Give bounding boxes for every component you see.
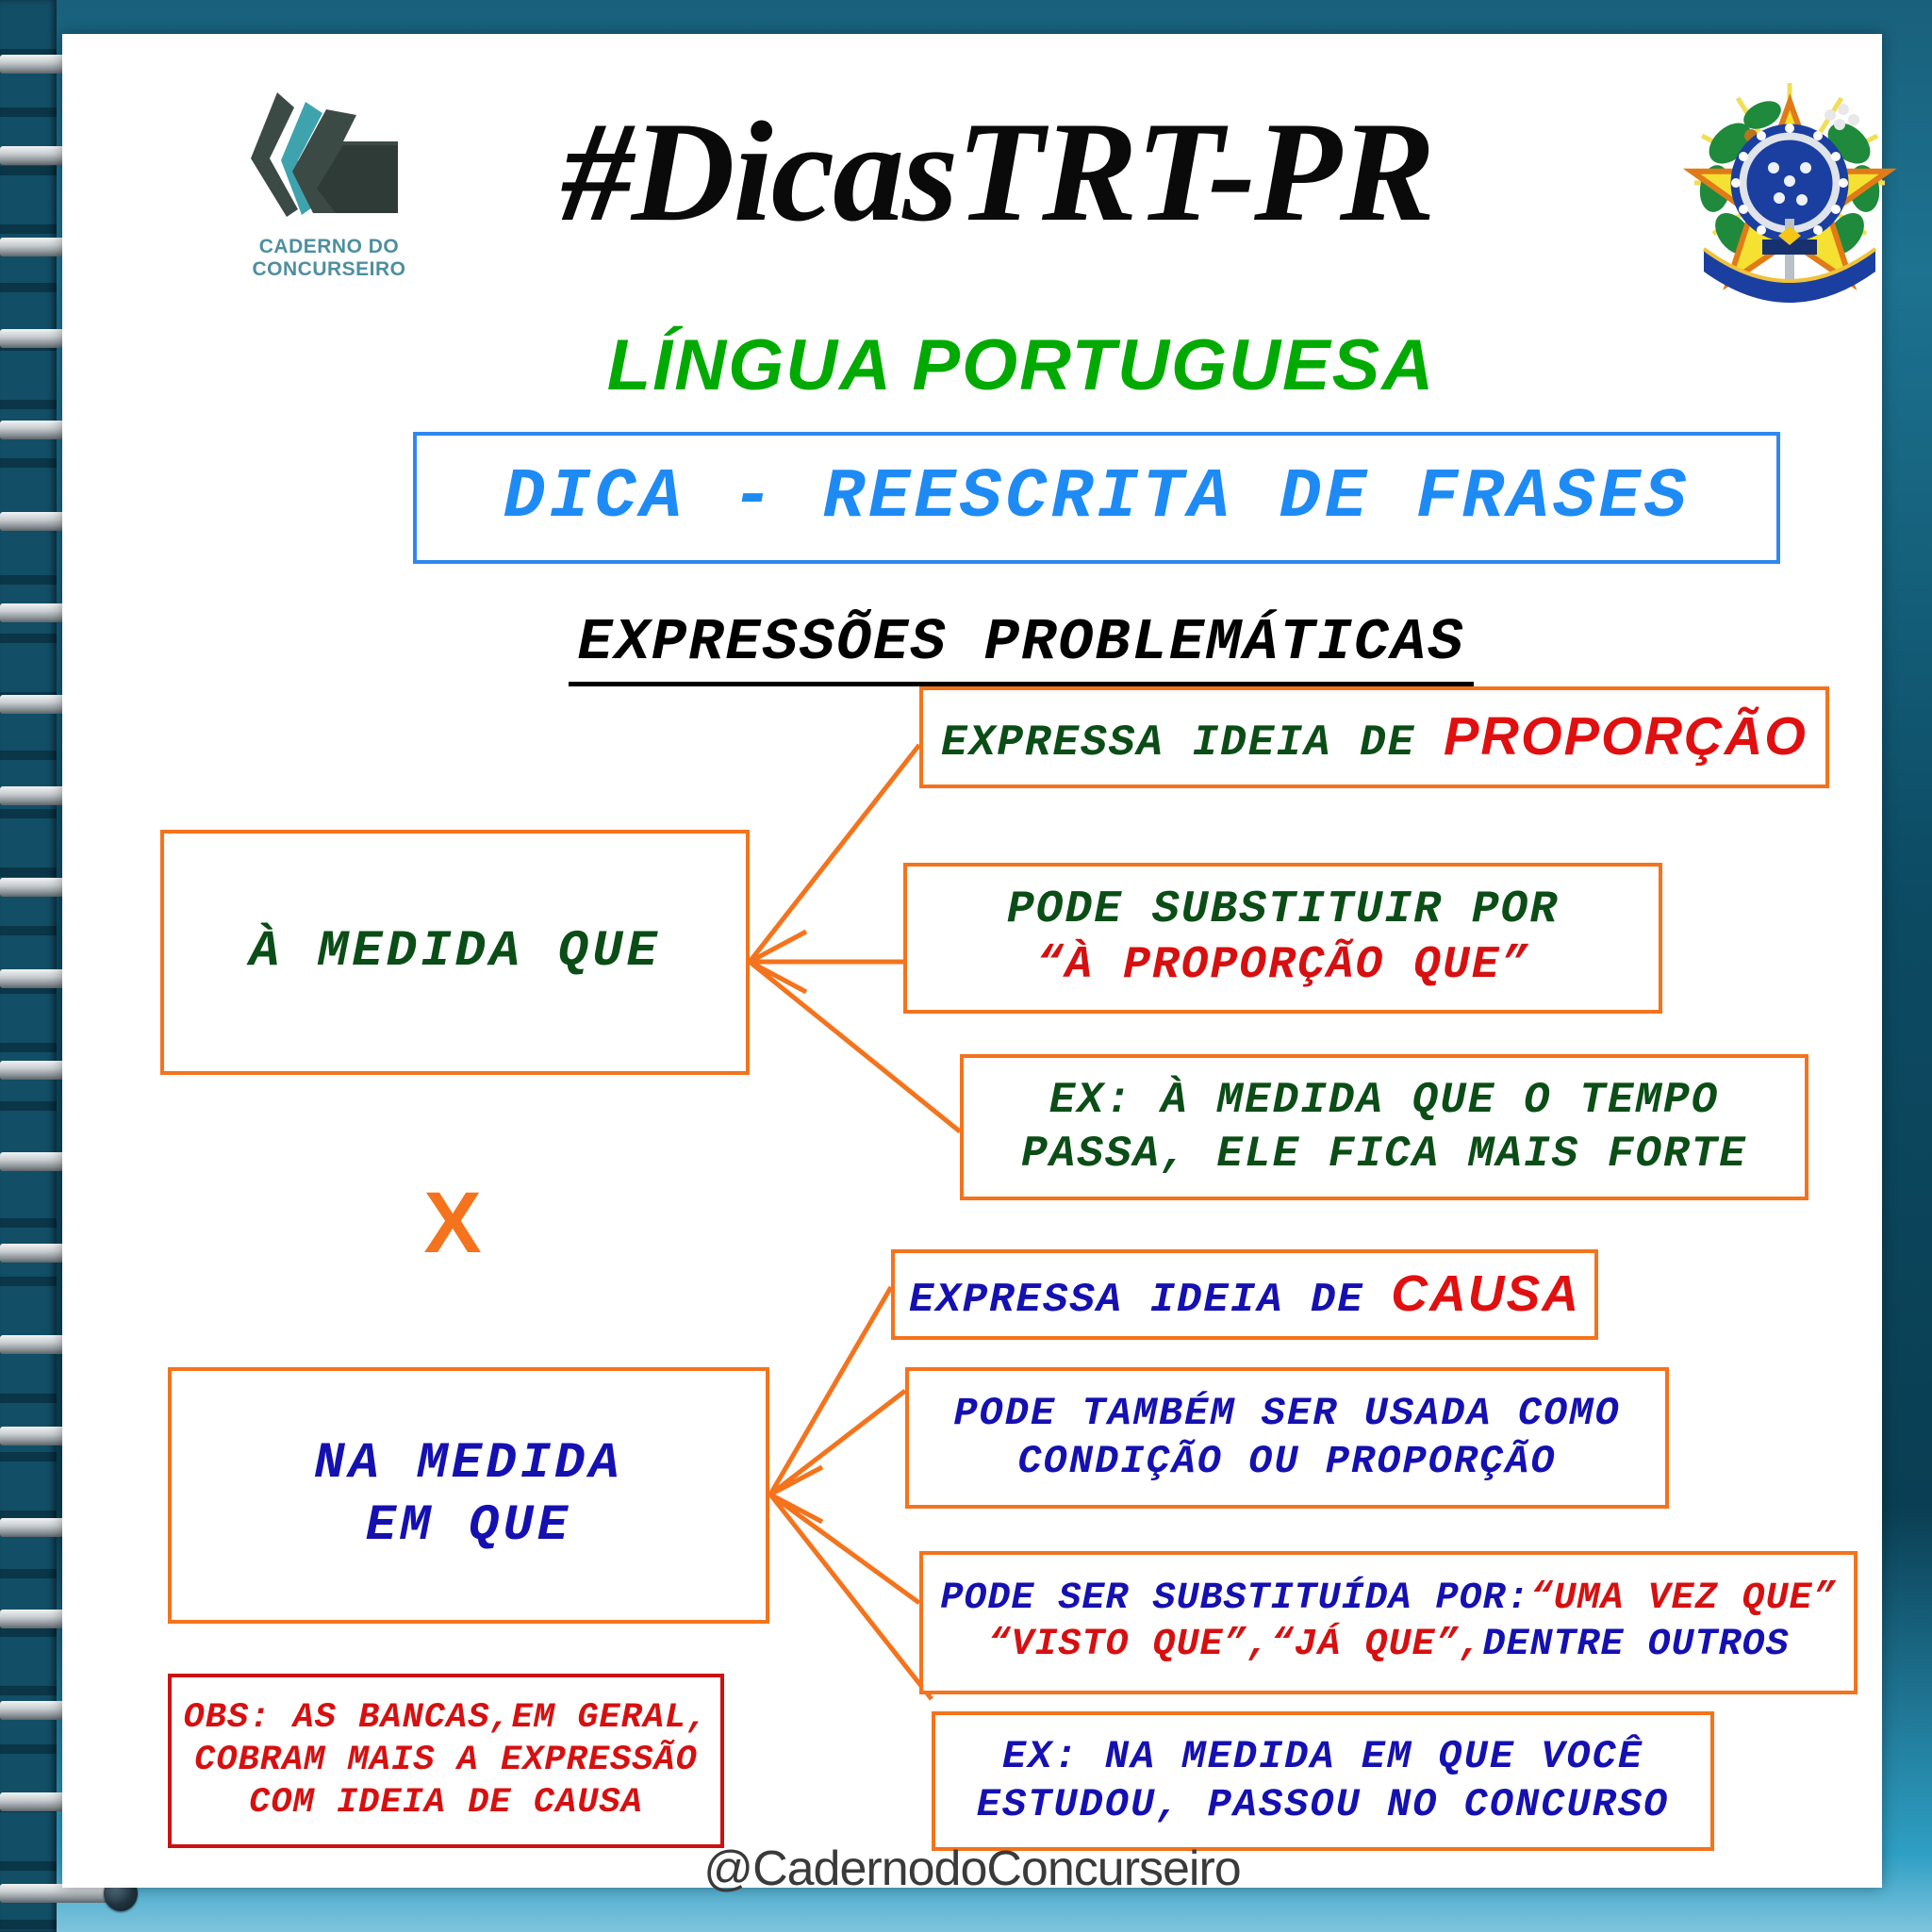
note-a-example: EX: À MEDIDA QUE O TEMPO PASSA, ELE FICA… [960,1054,1808,1200]
note-b-idea-line: EXPRESSA IDEIA DE CAUSA [909,1263,1580,1327]
infographic-page: CADERNO DO CONCURSEIRO #DicasTRT-PR [0,0,1932,1932]
note-b-sub-line2-red: “VISTO QUE”,“JÁ QUE”, [987,1624,1482,1666]
note-b-substitution: PODE SER SUBSTITUÍDA POR:“UMA VEZ QUE” “… [919,1551,1858,1694]
note-b-example: EX: NA MEDIDA EM QUE VOCÊ ESTUDOU, PASSO… [932,1711,1714,1851]
social-handle: @CadernodoConcurseiro [62,1841,1882,1897]
logo-caption-line2: CONCURSEIRO [239,258,419,281]
section-heading-text: EXPRESSÕES PROBLEMÁTICAS [569,609,1475,686]
note-b-ex-line1: EX: NA MEDIDA EM QUE VOCÊ [1002,1733,1643,1781]
open-book-logo-icon [232,85,421,236]
logo-caption-line1: CADERNO DO [239,236,419,258]
term-b-label-line2: EM QUE [366,1495,571,1558]
note-b-idea: EXPRESSA IDEIA DE CAUSA [891,1249,1598,1340]
page-title: #DicasTRT-PR [394,100,1601,243]
note-b-ex-line2: ESTUDOU, PASSOU NO CONCURSO [977,1781,1670,1829]
subject-title: LÍNGUA PORTUGUESA [111,330,1931,402]
observation-line2: COBRAM MAIS A EXPRESSÃO [194,1740,698,1782]
note-b-also-line1: PODE TAMBÉM SER USADA COMO [953,1390,1620,1438]
term-b-label-line1: NA MEDIDA [314,1433,623,1495]
note-b-also: PODE TAMBÉM SER USADA COMO CONDIÇÃO OU P… [905,1367,1669,1509]
note-a-idea-line: EXPRESSA IDEIA DE PROPORÇÃO [941,704,1808,769]
note-a-sub-line2: “À PROPORÇÃO QUE” [1036,938,1530,994]
observation-box: OBS: AS BANCAS,EM GERAL, COBRAM MAIS A E… [168,1674,724,1848]
tip-title-box: DICA - REESCRITA DE FRASES [413,432,1780,564]
note-a-sub-line1: PODE SUBSTITUIR POR [1007,883,1559,938]
note-b-sub-line2-blue: DENTRE OUTROS [1483,1624,1790,1666]
term-box-a-medida-que: À MEDIDA QUE [160,830,750,1075]
term-box-na-medida-em-que: NA MEDIDA EM QUE [168,1367,769,1624]
note-b-idea-lead: EXPRESSA IDEIA DE [909,1277,1391,1324]
tip-title-text: DICA - REESCRITA DE FRASES [504,458,1691,537]
logo-caption: CADERNO DO CONCURSEIRO [239,236,419,280]
note-b-sub-line1: PODE SER SUBSTITUÍDA POR:“UMA VEZ QUE” [940,1577,1836,1623]
observation-line3: COM IDEIA DE CAUSA [249,1782,643,1825]
note-b-sub-line1-red: “UMA VEZ QUE” [1530,1577,1837,1620]
note-a-idea: EXPRESSA IDEIA DE PROPORÇÃO [919,686,1829,788]
note-b-sub-line1-blue: PODE SER SUBSTITUÍDA POR: [940,1577,1529,1620]
note-a-idea-lead: EXPRESSA IDEIA DE [941,718,1444,768]
note-a-ex-line2: PASSA, ELE FICA MAIS FORTE [1021,1128,1747,1181]
section-heading: EXPRESSÕES PROBLEMÁTICAS [111,609,1931,676]
note-a-ex-line1: EX: À MEDIDA QUE O TEMPO [1049,1074,1720,1127]
note-a-substitution: PODE SUBSTITUIR POR “À PROPORÇÃO QUE” [903,863,1662,1014]
caderno-do-concurseiro-logo: CADERNO DO CONCURSEIRO [232,85,421,288]
observation-line1: OBS: AS BANCAS,EM GERAL, [184,1697,709,1740]
brazil-coat-of-arms-icon [1681,77,1898,304]
note-b-sub-line2: “VISTO QUE”,“JÁ QUE”,DENTRE OUTROS [987,1623,1789,1669]
versus-symbol: X [358,1174,547,1273]
note-b-idea-highlight: CAUSA [1391,1265,1580,1322]
notebook-spine [0,0,57,1932]
note-b-also-line2: CONDIÇÃO OU PROPORÇÃO [1017,1438,1556,1486]
note-a-idea-highlight: PROPORÇÃO [1444,706,1808,766]
term-a-label: À MEDIDA QUE [249,921,661,983]
